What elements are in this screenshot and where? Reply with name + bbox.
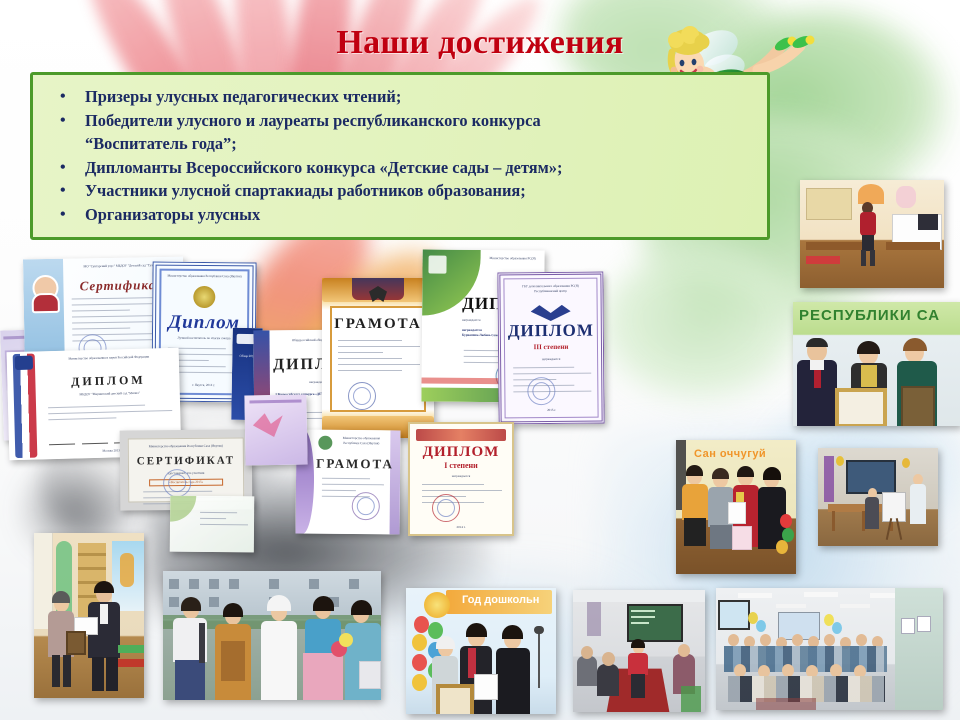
cert-subtitle: I степени	[414, 461, 508, 470]
photo-teacher-in-classroom	[800, 180, 944, 288]
photo-banner-text: Год дошкольн	[462, 594, 539, 606]
achievements-list: Призеры улусных педагогических чтений; П…	[47, 85, 749, 226]
photo-conference-hall-easels	[818, 448, 938, 546]
cert-heading: ДИПЛОМ	[41, 372, 175, 391]
list-item: Участники улусной спартакиады работников…	[47, 179, 749, 203]
cert-heading: ДИПЛОМ	[414, 444, 508, 461]
presentation-slide: МО "Сунтарский улус" МБДОУ "Детский сад …	[0, 0, 960, 720]
cert-heading: ГРАМОТА	[332, 316, 424, 333]
photo-banner-text: Сан оччугуй	[694, 448, 766, 460]
cert-heading: ДИПЛОМ	[505, 321, 597, 342]
cert-diplom-iii-stepeni: ГБУ дополнительного образования РС(Я)Рес…	[497, 272, 604, 425]
photo-large-group-seminar	[716, 588, 943, 710]
cert-gramota-violet: Министерство образования Республики Саха…	[296, 430, 401, 535]
photo-banner-text: РЕСПУБЛИКИ СА	[799, 307, 940, 324]
cert-subtitle: III степени	[505, 343, 597, 352]
achievements-box: Призеры улусных педагогических чтений; П…	[30, 72, 770, 240]
photo-four-women-award: Сан оччугуй	[676, 440, 796, 574]
list-item: Дипломанты Всероссийского конкурса «Детс…	[47, 156, 749, 180]
photo-women-group-outdoors	[163, 571, 381, 700]
cert-purple-poster-small	[244, 394, 307, 465]
cert-diplom-i-stepeni: ДИПЛОМ I степени награждается 2014 г.	[408, 422, 514, 536]
cert-heading: ГРАМОТА	[316, 456, 388, 473]
list-item: Организаторы улусных	[47, 203, 749, 227]
list-item: Победители улусного и лауреаты республик…	[47, 109, 749, 156]
photo-award-balloons: Год дошкольн	[406, 588, 556, 714]
cert-gramota-scroll: ГРАМОТА	[322, 278, 434, 438]
photo-man-woman-certificate	[34, 533, 144, 698]
photo-award-ceremony-republic: РЕСПУБЛИКИ СА	[793, 302, 960, 426]
cert-heading: СЕРТИФИКАТ	[133, 455, 239, 468]
list-item: Призеры улусных педагогических чтений;	[47, 85, 749, 109]
photo-presentation-screen	[573, 590, 705, 712]
cert-small-green	[170, 496, 254, 553]
page-title: Наши достижения	[300, 24, 660, 62]
